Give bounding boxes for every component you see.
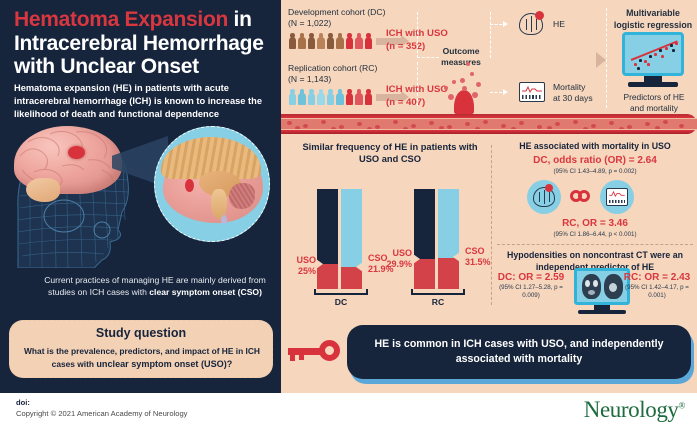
study-question-title: Study question xyxy=(10,326,272,340)
key-icon xyxy=(288,340,340,362)
person-icon xyxy=(288,33,297,49)
rc-or-ci: (95% CI 1.86–6.44, p < 0.001) xyxy=(500,231,690,239)
person-icon-highlight xyxy=(345,89,354,105)
person-icon-highlight xyxy=(364,89,373,105)
person-icon-highlight xyxy=(345,33,354,49)
rc-or-value: RC, OR = 3.46 xyxy=(500,218,690,229)
blood-spurt xyxy=(454,90,474,114)
hematoma-dot-icon xyxy=(545,184,553,192)
mortality-outcome-label: Mortality at 30 days xyxy=(553,82,593,104)
title-line3: with Unclear Onset xyxy=(14,55,199,78)
he-dash-v xyxy=(490,12,491,58)
model-title: Multivariable logistic regression xyxy=(612,8,694,31)
computer-screen xyxy=(622,32,684,76)
current-practice-text: Current practices of managing HE are mai… xyxy=(36,274,274,299)
vessel-lumen xyxy=(281,118,697,130)
bar-dc-cso xyxy=(341,189,362,289)
bar-group-dc xyxy=(317,189,365,289)
axis-bracket-rc xyxy=(411,289,465,295)
person-icon xyxy=(317,89,326,105)
person-icon xyxy=(336,33,345,49)
person-icon-highlight xyxy=(355,89,364,105)
person-icon xyxy=(307,33,316,49)
rc-n-text: (N = 1,143) xyxy=(288,74,331,84)
copyright-text: Copyright © 2021 American Academy of Neu… xyxy=(16,409,187,418)
hypo-rc-or-ci: (95% CI 1.42–4.17, p = 0.001) xyxy=(618,284,696,301)
he-dash-arrow xyxy=(503,21,508,27)
ecg-line-icon xyxy=(522,86,542,93)
blood-spray-illustration xyxy=(440,60,488,112)
bar-rc-cso xyxy=(438,189,459,289)
title-rest: in xyxy=(228,8,252,31)
dc-people-icons xyxy=(288,32,373,49)
hypo-dc-or-value: DC: OR = 2.59 xyxy=(492,272,570,283)
ct-base xyxy=(578,310,626,314)
dc-n-text: (N = 1,022) xyxy=(288,18,331,28)
mortality-dash-arrow xyxy=(503,89,508,95)
monitor-circle-icon xyxy=(600,180,634,214)
person-icon xyxy=(326,33,335,49)
left-panel: Hematoma Expansion in Intracerebral Hemo… xyxy=(0,0,281,393)
blood-vessel-divider xyxy=(281,114,697,134)
model-divider-dash xyxy=(606,8,607,108)
footer: doi: Copyright © 2021 American Academy o… xyxy=(0,393,697,429)
mortality-monitor-icon xyxy=(519,82,545,102)
brain-illustration xyxy=(0,118,281,268)
neurology-logo-text: Neurology xyxy=(584,397,679,422)
brain-he-icon xyxy=(519,13,543,35)
neurology-logo: Neurology® xyxy=(584,397,685,423)
person-icon xyxy=(288,89,297,105)
dc-label: Development cohort (DC) (N = 1,022) xyxy=(288,7,385,29)
conclusion-banner: HE is common in ICH cases with USO, and … xyxy=(347,325,691,379)
sagittal-inset xyxy=(154,126,270,242)
dc-or-value: DC, odds ratio (OR) = 2.64 xyxy=(500,155,690,166)
outcome-dash-bottom xyxy=(417,62,418,106)
person-icon-highlight xyxy=(364,33,373,49)
rc-label: Replication cohort (RC) (N = 1,143) xyxy=(288,63,377,85)
bar-label-dc-uso: USO25% xyxy=(288,255,316,278)
axis-bracket-dc xyxy=(314,289,368,295)
dc-or-ci: (95% CI 1.43–4.89, p = 0.002) xyxy=(500,168,690,176)
bar-label-rc-cso: CSO31.5% xyxy=(465,246,491,269)
link-chain-icon xyxy=(570,190,592,203)
current-practice-bold: clear symptom onset (CSO) xyxy=(149,287,262,297)
outcome-dash-top xyxy=(417,12,418,58)
page-title: Hematoma Expansion in Intracerebral Hemo… xyxy=(14,8,276,79)
dc-ich-n-text: (n = 352) xyxy=(386,41,425,52)
model-arrow-icon xyxy=(596,52,606,68)
hypo-dc-or-ci: (95% CI 1.27–5.28, p = 0.009) xyxy=(492,284,570,301)
person-icon xyxy=(298,33,307,49)
conclusion-text: HE is common in ICH cases with USO, and … xyxy=(369,337,669,368)
cerebellum-shape xyxy=(26,178,60,202)
infographic-root: Hematoma Expansion in Intracerebral Hemo… xyxy=(0,0,697,429)
page-subtitle: Hematoma expansion (HE) in patients with… xyxy=(14,82,272,122)
title-highlight: Hematoma Expansion xyxy=(14,8,228,31)
bar-dc-uso xyxy=(317,189,338,289)
doi-label: doi: xyxy=(16,398,30,407)
mortality-dash-h xyxy=(490,92,502,93)
person-icon xyxy=(307,89,316,105)
rc-ich-n-text: (n = 407) xyxy=(386,97,425,108)
study-question-bold: unclear symptom onset (USO)? xyxy=(96,359,232,369)
axis-label-rc: RC xyxy=(411,297,465,307)
dc-label-text: Development cohort (DC) xyxy=(288,7,385,17)
rc-label-text: Replication cohort (RC) xyxy=(288,63,377,73)
he-red-dot-icon xyxy=(535,11,544,20)
brain-glyph xyxy=(533,187,555,207)
he-dash-h xyxy=(490,24,502,25)
drip-icon xyxy=(221,215,227,224)
computer-icon xyxy=(622,32,684,88)
person-icon xyxy=(336,89,345,105)
person-icon xyxy=(326,89,335,105)
title-line2: Intracerebral Hemorrhage xyxy=(14,32,264,55)
chart-title: Similar frequency of HE in patients with… xyxy=(292,141,488,166)
ecg-line-icon xyxy=(609,191,625,197)
bar-rc-uso xyxy=(414,189,435,289)
person-icon xyxy=(298,89,307,105)
ct-slice-left xyxy=(582,274,601,299)
brain-circle-icon xyxy=(527,180,561,214)
he-outcome-label: HE xyxy=(553,19,565,30)
bar-group-rc xyxy=(414,189,462,289)
person-icon xyxy=(317,33,326,49)
cerebellum-inset xyxy=(229,183,255,209)
model-subtitle: Predictors of HE and mortality xyxy=(612,92,696,115)
rc-people-icons xyxy=(288,88,373,105)
stats-section-divider xyxy=(497,244,693,245)
study-question-box: Study question What is the prevalence, p… xyxy=(9,320,273,378)
hypo-rc-or-value: RC: OR = 2.43 xyxy=(618,272,696,283)
mortality-section-title: HE associated with mortality in USO xyxy=(500,141,690,153)
study-question-text: What is the prevalence, predictors, and … xyxy=(18,345,266,371)
person-icon-highlight xyxy=(355,33,364,49)
bar-label-rc-uso: USO29.9% xyxy=(380,248,412,271)
monitor-glyph xyxy=(606,188,628,206)
axis-label-dc: DC xyxy=(314,297,368,307)
computer-base xyxy=(628,82,678,87)
hematoma-dot-icon xyxy=(68,146,85,159)
inset-hematoma-icon xyxy=(185,179,194,192)
